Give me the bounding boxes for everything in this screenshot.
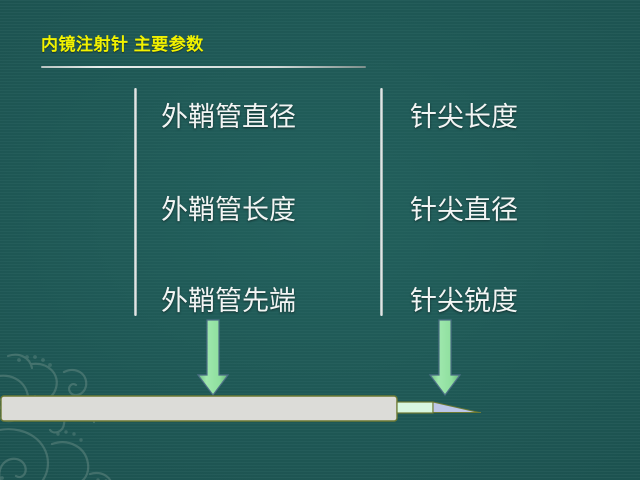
down-arrow-icon-sheath [196,319,230,399]
left-column-divider [134,88,137,316]
slide-title: 内镜注射针 主要参数 [41,30,204,55]
param-needle-diameter: 针尖直径 [410,195,518,225]
right-column-divider [380,88,383,316]
title-underline [41,66,366,68]
sheath-tube [1,396,397,421]
injection-needle-diagram [0,393,500,425]
param-sheath-length: 外鞘管长度 [161,195,296,225]
param-sheath-tip: 外鞘管先端 [161,286,296,316]
param-needle-sharpness: 针尖锐度 [410,286,518,316]
param-needle-length: 针尖长度 [410,102,518,132]
needle-tip [433,402,479,413]
needle-collar [397,402,433,413]
slide-canvas: 内镜注射针 主要参数 外鞘管直径 外鞘管长度 外鞘管先端 针尖长度 针尖直径 针… [0,0,640,480]
param-sheath-diameter: 外鞘管直径 [161,102,296,132]
down-arrow-icon-needle [428,319,462,399]
